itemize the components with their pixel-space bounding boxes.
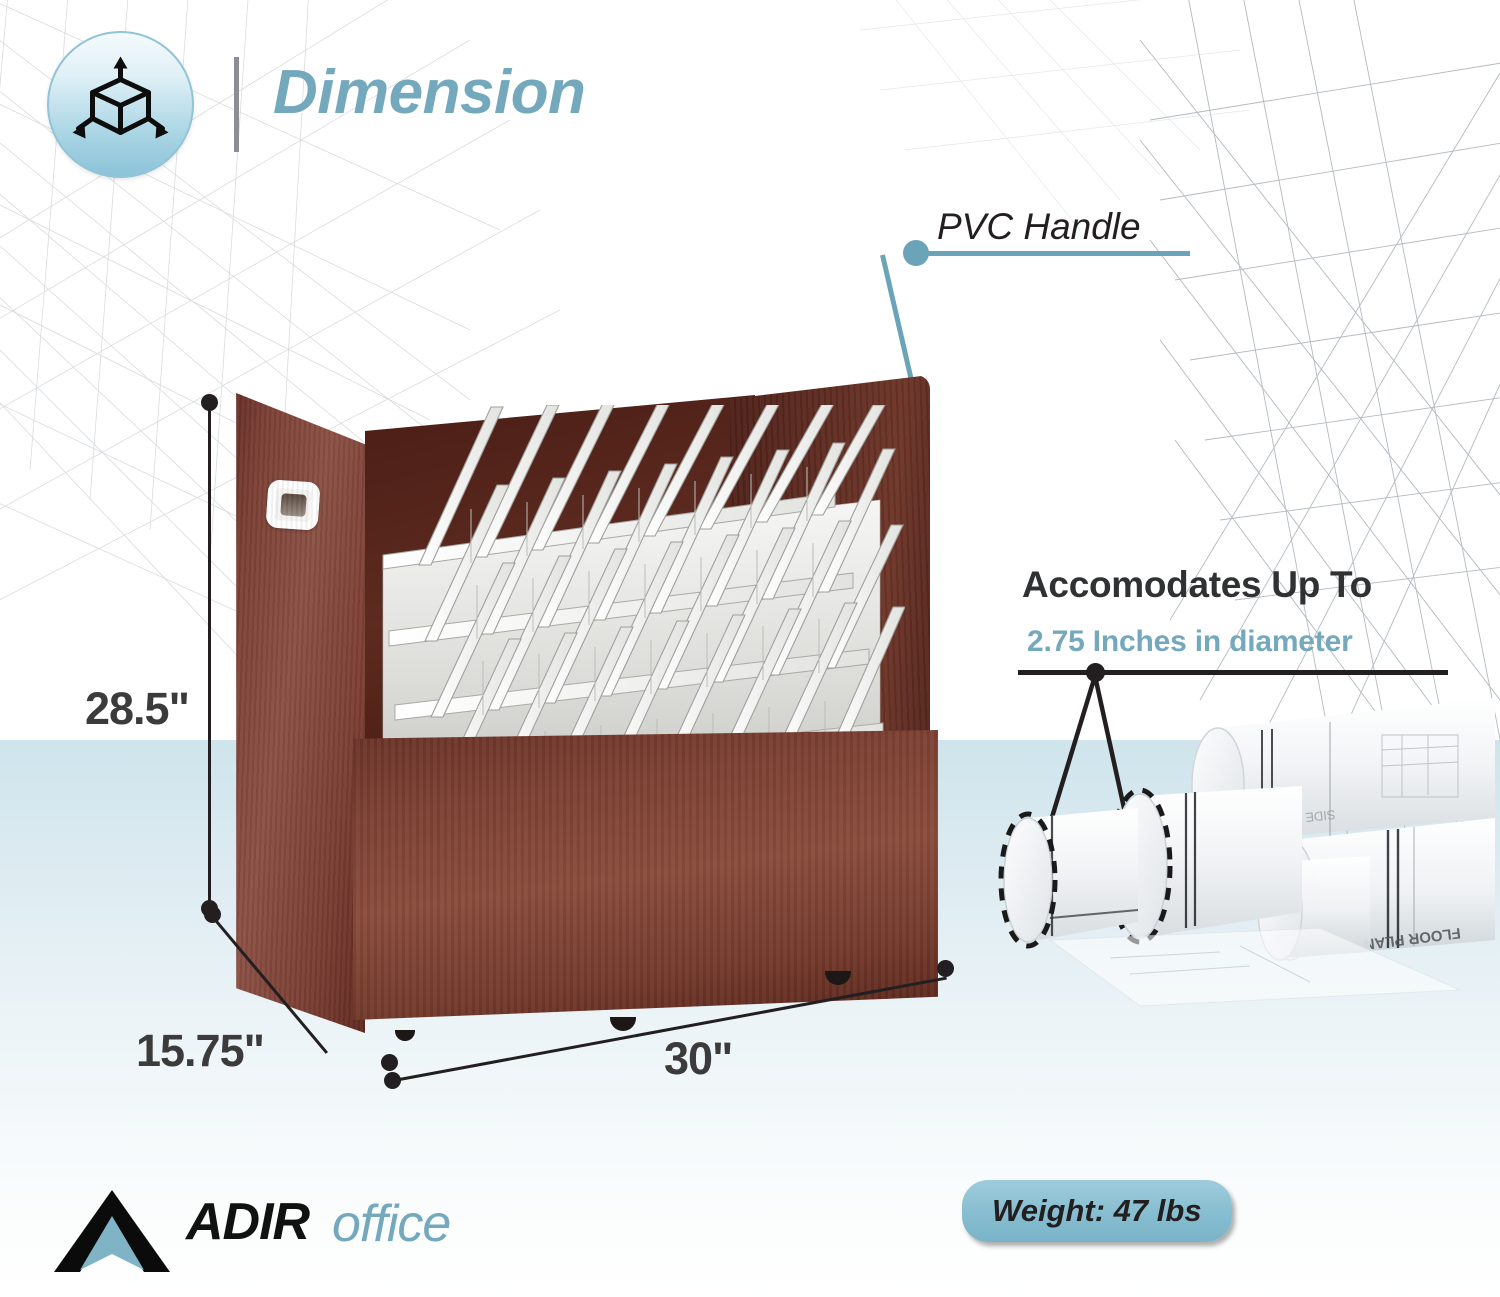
caster-wheel-front xyxy=(610,1017,636,1031)
header-divider xyxy=(234,57,239,152)
adir-arrow-logo-icon xyxy=(52,1188,172,1274)
cart-front-panel xyxy=(353,730,938,1020)
callout-joint-dot xyxy=(903,240,929,266)
depth-dim-dot-bottom xyxy=(381,1054,398,1071)
logo-text-secondary: office xyxy=(332,1194,450,1254)
pvc-handle-right xyxy=(1307,429,1372,472)
blueprint-rolls-illustration: SIDE ELEVATION FLOOR PLAN xyxy=(990,690,1500,1080)
width-dim-dot-right xyxy=(937,960,954,977)
height-dim-line xyxy=(208,402,211,906)
callout-leader-horizontal xyxy=(918,251,1190,256)
capacity-title: Accomodates Up To xyxy=(1022,564,1372,606)
page-title: Dimension xyxy=(273,62,585,124)
pvc-handle-left xyxy=(265,479,320,531)
brand-logo: ADIR office xyxy=(52,1188,452,1274)
product-illustration xyxy=(225,375,955,1055)
width-dim-label: 30" xyxy=(664,1033,732,1085)
3d-cube-dimension-icon xyxy=(68,52,173,157)
caster-wheel-left xyxy=(395,1030,415,1041)
callout-label-pvc-handle: PVC Handle xyxy=(937,206,1141,248)
depth-dim-label: 15.75" xyxy=(136,1025,264,1077)
weight-badge: Weight: 47 lbs xyxy=(962,1180,1232,1242)
dimension-badge xyxy=(47,31,194,178)
capacity-subtitle: 2.75 Inches in diameter xyxy=(1027,625,1353,659)
infographic-canvas: Dimension PVC Handle xyxy=(0,0,1500,1297)
height-dim-label: 28.5" xyxy=(85,683,189,735)
logo-text-primary: ADIR xyxy=(186,1192,309,1252)
cart-left-panel xyxy=(225,393,365,1033)
